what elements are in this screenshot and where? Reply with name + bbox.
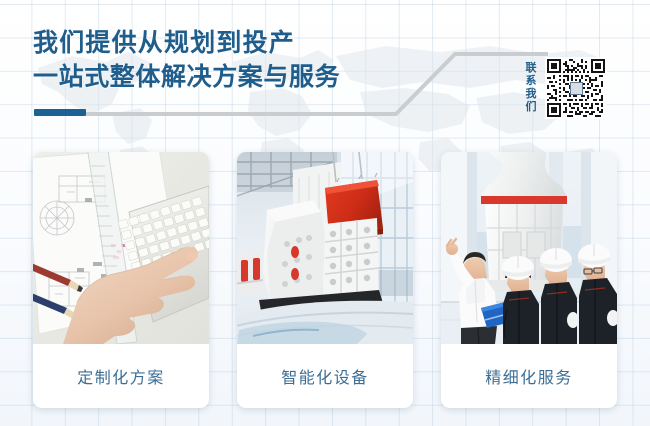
contact-qr-block: 联系我们 — [524, 55, 624, 121]
feature-card-list: 定制化方案 — [33, 152, 617, 408]
feature-card-refined-service[interactable]: 精细化服务 — [441, 152, 617, 408]
feature-card-label: 定制化方案 — [33, 344, 209, 408]
feature-card-smart-equipment[interactable]: 智能化设备 — [237, 152, 413, 408]
feature-card-custom-solution[interactable]: 定制化方案 — [33, 152, 209, 408]
qr-code-icon[interactable] — [545, 57, 607, 119]
blueprint-desk-photo — [33, 152, 209, 344]
feature-card-label: 精细化服务 — [441, 344, 617, 408]
promo-banner: 我们提供从规划到投产 一站式整体解决方案与服务 联系我们 — [0, 0, 650, 426]
feature-card-label: 智能化设备 — [237, 344, 413, 408]
engineer-team-photo — [441, 152, 617, 344]
crusher-machine-photo — [237, 152, 413, 344]
contact-caption: 联系我们 — [524, 62, 538, 114]
qr-center-logo — [570, 82, 583, 95]
